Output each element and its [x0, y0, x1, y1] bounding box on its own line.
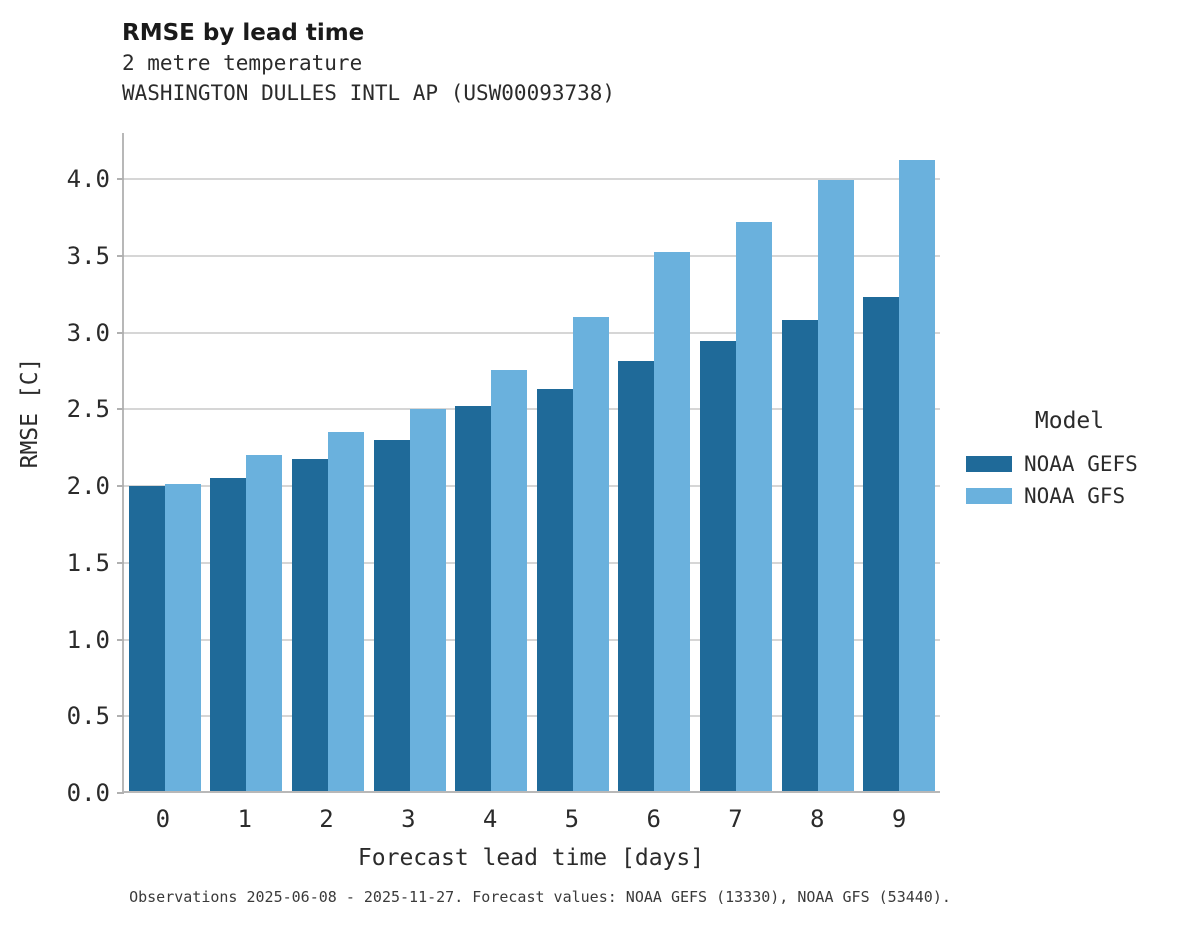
y-tick-mark — [117, 332, 124, 334]
chart-title: RMSE by lead time — [122, 18, 1022, 48]
bar[interactable] — [165, 484, 201, 791]
chart-subtitle-station: WASHINGTON DULLES INTL AP (USW00093738) — [122, 78, 1022, 108]
bar[interactable] — [863, 297, 899, 791]
bar-group — [777, 133, 859, 791]
y-tick-label: 0.5 — [10, 704, 110, 728]
bar-group — [532, 133, 614, 791]
bar[interactable] — [328, 432, 364, 791]
bar[interactable] — [246, 455, 282, 791]
y-tick-label: 1.5 — [10, 551, 110, 575]
bar[interactable] — [700, 341, 736, 791]
legend-item[interactable]: NOAA GFS — [966, 480, 1181, 512]
y-tick-label: 0.0 — [10, 781, 110, 805]
legend-label: NOAA GFS — [1024, 484, 1125, 508]
bar-group — [124, 133, 206, 791]
y-tick-mark — [117, 715, 124, 717]
bar[interactable] — [374, 440, 410, 791]
y-tick-mark — [117, 255, 124, 257]
plot-area — [122, 133, 940, 793]
bar[interactable] — [292, 459, 328, 791]
footnote: Observations 2025-06-08 - 2025-11-27. Fo… — [0, 888, 1080, 906]
bar[interactable] — [818, 180, 854, 791]
x-tick-label: 0 — [122, 805, 204, 833]
y-axis-label: RMSE [C] — [17, 313, 43, 513]
x-axis-label: Forecast lead time [days] — [122, 845, 940, 871]
x-tick-label: 3 — [367, 805, 449, 833]
y-tick-mark — [117, 178, 124, 180]
bar[interactable] — [491, 370, 527, 791]
bar-group — [695, 133, 777, 791]
legend-swatch — [966, 488, 1012, 504]
bar[interactable] — [210, 478, 246, 791]
bar[interactable] — [782, 320, 818, 791]
y-tick-label: 1.0 — [10, 628, 110, 652]
bar-group — [369, 133, 451, 791]
bar-group — [287, 133, 369, 791]
bars-layer — [124, 133, 940, 791]
y-tick-label: 3.5 — [10, 244, 110, 268]
y-tick-mark — [117, 792, 124, 794]
x-axis-ticks: 0123456789 — [122, 805, 940, 833]
legend-swatch — [966, 456, 1012, 472]
legend-item[interactable]: NOAA GEFS — [966, 448, 1181, 480]
bar[interactable] — [410, 409, 446, 791]
bar[interactable] — [736, 222, 772, 791]
x-tick-label: 2 — [286, 805, 368, 833]
legend-label: NOAA GEFS — [1024, 452, 1138, 476]
x-tick-label: 4 — [449, 805, 531, 833]
x-tick-label: 5 — [531, 805, 613, 833]
bar[interactable] — [455, 406, 491, 791]
x-tick-label: 9 — [858, 805, 940, 833]
x-tick-label: 1 — [204, 805, 286, 833]
legend-title: Model — [966, 408, 1181, 434]
bar-group — [614, 133, 696, 791]
bar[interactable] — [537, 389, 573, 791]
bar[interactable] — [618, 361, 654, 791]
y-tick-label: 4.0 — [10, 167, 110, 191]
y-tick-mark — [117, 639, 124, 641]
y-tick-mark — [117, 408, 124, 410]
bar-group — [206, 133, 288, 791]
x-tick-label: 8 — [776, 805, 858, 833]
y-tick-mark — [117, 485, 124, 487]
bar[interactable] — [129, 486, 165, 791]
bar[interactable] — [573, 317, 609, 791]
legend-rows: NOAA GEFSNOAA GFS — [966, 448, 1181, 512]
legend: Model NOAA GEFSNOAA GFS — [966, 408, 1181, 512]
x-tick-label: 6 — [613, 805, 695, 833]
bar-group — [858, 133, 940, 791]
bar[interactable] — [899, 160, 935, 791]
chart-subtitle-variable: 2 metre temperature — [122, 48, 1022, 78]
y-tick-mark — [117, 562, 124, 564]
title-block: RMSE by lead time 2 metre temperature WA… — [122, 18, 1022, 108]
bar[interactable] — [654, 252, 690, 791]
x-tick-label: 7 — [695, 805, 777, 833]
bar-group — [450, 133, 532, 791]
